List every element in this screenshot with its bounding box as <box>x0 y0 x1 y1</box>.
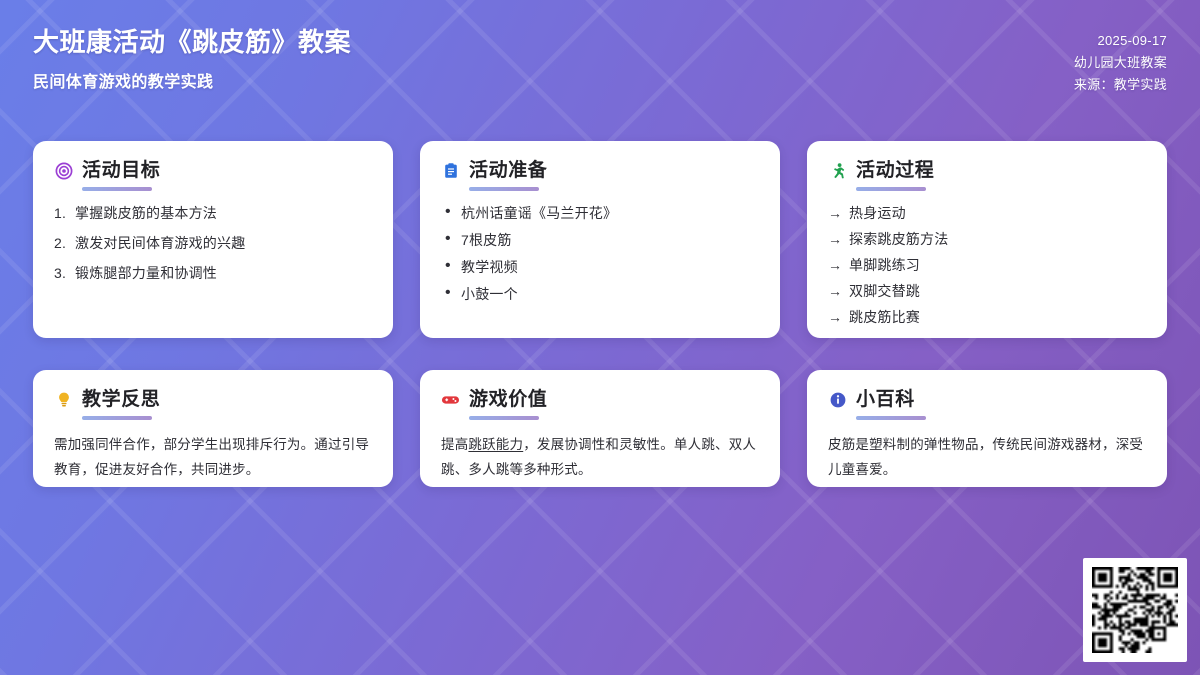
list-item: 杭州话童谣《马兰开花》 <box>441 203 759 223</box>
card-reflection[interactable]: 教学反思 需加强同伴合作，部分学生出现排斥行为。通过引导教育，促进友好合作，共同… <box>33 370 393 487</box>
text-underlined: 跳跃能力 <box>468 437 523 452</box>
title-accent-bar <box>469 187 539 191</box>
card-preparation[interactable]: 活动准备 杭州话童谣《马兰开花》 7根皮筋 教学视频 小鼓一个 <box>420 141 780 338</box>
list-item: 双脚交替跳 <box>828 281 1146 301</box>
card-title: 小百科 <box>856 390 915 409</box>
qr-code-image <box>1092 567 1178 653</box>
page-header: 大班康活动《跳皮筋》教案 民间体育游戏的教学实践 2025-09-17 幼儿园大… <box>33 26 1167 118</box>
meta-category: 幼儿园大班教案 <box>1074 52 1167 74</box>
title-accent-bar <box>82 416 152 420</box>
objectives-list: 1.掌握跳皮筋的基本方法 2.激发对民间体育游戏的兴趣 3.锻炼腿部力量和协调性 <box>54 203 372 283</box>
card-process[interactable]: 活动过程 热身运动 探索跳皮筋方法 单脚跳练习 双脚交替跳 跳皮筋比赛 <box>807 141 1167 338</box>
header-meta: 2025-09-17 幼儿园大班教案 来源：教学实践 <box>1074 30 1167 96</box>
card-body: 提高跳跃能力，发展协调性和灵敏性。单人跳、双人跳、多人跳等多种形式。 <box>441 432 759 482</box>
card-body: 皮筋是塑料制的弹性物品，传统民间游戏器材，深受儿童喜爱。 <box>828 432 1146 482</box>
qr-code[interactable] <box>1083 558 1187 662</box>
card-body: 杭州话童谣《马兰开花》 7根皮筋 教学视频 小鼓一个 <box>441 203 759 304</box>
card-body: 热身运动 探索跳皮筋方法 单脚跳练习 双脚交替跳 跳皮筋比赛 <box>828 203 1146 327</box>
meta-date: 2025-09-17 <box>1074 30 1167 52</box>
card-header: 游戏价值 <box>441 390 759 409</box>
card-header: 活动过程 <box>828 161 1146 180</box>
card-title: 游戏价值 <box>469 390 547 409</box>
card-header: 活动准备 <box>441 161 759 180</box>
lightbulb-icon <box>54 390 73 409</box>
slide-page: 大班康活动《跳皮筋》教案 民间体育游戏的教学实践 2025-09-17 幼儿园大… <box>0 0 1200 675</box>
title-accent-bar <box>856 416 926 420</box>
list-item: 2.激发对民间体育游戏的兴趣 <box>54 233 372 253</box>
list-item: 单脚跳练习 <box>828 255 1146 275</box>
card-encyclopedia[interactable]: 小百科 皮筋是塑料制的弹性物品，传统民间游戏器材，深受儿童喜爱。 <box>807 370 1167 487</box>
list-item: 跳皮筋比赛 <box>828 307 1146 327</box>
list-item: 1.掌握跳皮筋的基本方法 <box>54 203 372 223</box>
clipboard-icon <box>441 161 460 180</box>
text-prefix: 提高 <box>441 437 468 452</box>
game-value-text: 提高跳跃能力，发展协调性和灵敏性。单人跳、双人跳、多人跳等多种形式。 <box>441 432 759 482</box>
card-title: 活动过程 <box>856 161 934 180</box>
card-header: 教学反思 <box>54 390 372 409</box>
page-subtitle: 民间体育游戏的教学实践 <box>33 68 1167 92</box>
title-accent-bar <box>469 416 539 420</box>
reflection-text: 需加强同伴合作，部分学生出现排斥行为。通过引导教育，促进友好合作，共同进步。 <box>54 432 372 482</box>
card-title: 教学反思 <box>82 390 160 409</box>
page-title: 大班康活动《跳皮筋》教案 <box>33 26 1167 59</box>
card-body: 需加强同伴合作，部分学生出现排斥行为。通过引导教育，促进友好合作，共同进步。 <box>54 432 372 482</box>
card-game-value[interactable]: 游戏价值 提高跳跃能力，发展协调性和灵敏性。单人跳、双人跳、多人跳等多种形式。 <box>420 370 780 487</box>
list-item: 7根皮筋 <box>441 230 759 250</box>
list-item: 小鼓一个 <box>441 284 759 304</box>
card-header: 活动目标 <box>54 161 372 180</box>
runner-icon <box>828 161 847 180</box>
card-grid: 活动目标 1.掌握跳皮筋的基本方法 2.激发对民间体育游戏的兴趣 3.锻炼腿部力… <box>33 141 1167 487</box>
encyclopedia-text: 皮筋是塑料制的弹性物品，传统民间游戏器材，深受儿童喜爱。 <box>828 432 1146 482</box>
title-accent-bar <box>82 187 152 191</box>
title-accent-bar <box>856 187 926 191</box>
list-item: 探索跳皮筋方法 <box>828 229 1146 249</box>
preparation-list: 杭州话童谣《马兰开花》 7根皮筋 教学视频 小鼓一个 <box>441 203 759 304</box>
gamepad-icon <box>441 390 460 409</box>
list-item: 3.锻炼腿部力量和协调性 <box>54 263 372 283</box>
card-body: 1.掌握跳皮筋的基本方法 2.激发对民间体育游戏的兴趣 3.锻炼腿部力量和协调性 <box>54 203 372 283</box>
process-list: 热身运动 探索跳皮筋方法 单脚跳练习 双脚交替跳 跳皮筋比赛 <box>828 203 1146 327</box>
list-item: 热身运动 <box>828 203 1146 223</box>
info-icon <box>828 390 847 409</box>
list-item: 教学视频 <box>441 257 759 277</box>
card-header: 小百科 <box>828 390 1146 409</box>
card-objectives[interactable]: 活动目标 1.掌握跳皮筋的基本方法 2.激发对民间体育游戏的兴趣 3.锻炼腿部力… <box>33 141 393 338</box>
meta-source: 来源：教学实践 <box>1074 74 1167 96</box>
target-icon <box>54 161 73 180</box>
card-title: 活动目标 <box>82 161 160 180</box>
card-title: 活动准备 <box>469 161 547 180</box>
